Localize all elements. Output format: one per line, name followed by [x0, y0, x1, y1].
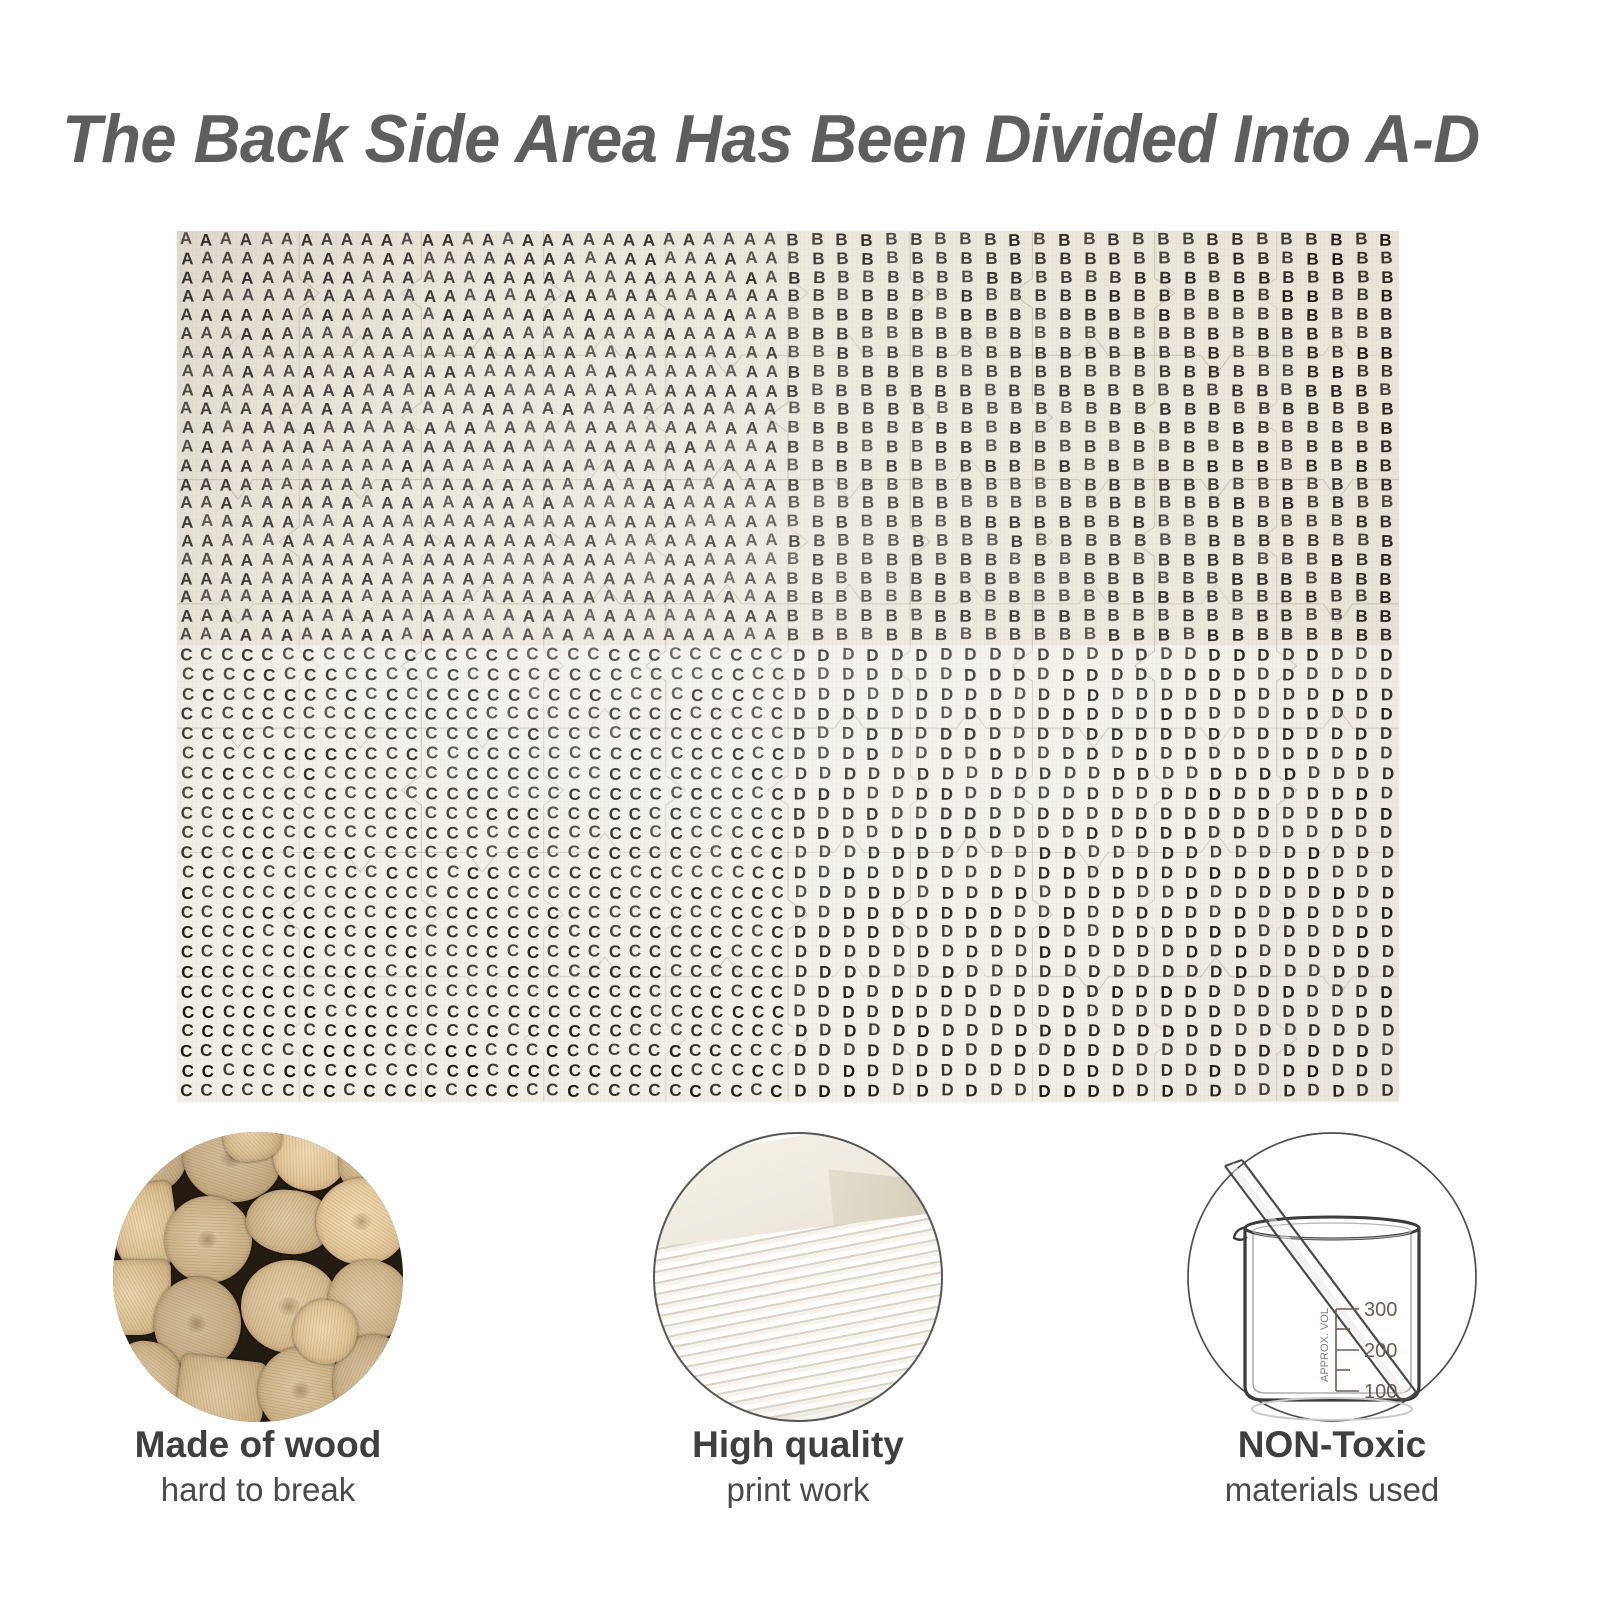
grid-letter: D: [984, 883, 1008, 903]
grid-letter: A: [196, 400, 216, 419]
grid-letter: D: [862, 1081, 887, 1101]
grid-letter: D: [933, 725, 958, 745]
grid-letter: A: [499, 344, 519, 363]
paper-caption-sub: print work: [588, 1468, 1008, 1512]
grid-letter: D: [1253, 1080, 1278, 1100]
grid-letter: C: [604, 1040, 624, 1060]
grid-letter: B: [1003, 306, 1028, 325]
grid-letter: D: [886, 764, 911, 785]
grid-letter: B: [1028, 324, 1053, 343]
grid-letter: A: [558, 626, 578, 645]
grid-letter: A: [257, 494, 277, 513]
grid-letter: C: [665, 645, 686, 664]
grid-letter: B: [1176, 457, 1201, 476]
grid-letter: D: [788, 744, 812, 764]
grid-letter: D: [1251, 724, 1276, 744]
grid-letter: A: [358, 513, 378, 532]
grid-letter: B: [1250, 513, 1275, 532]
grid-letter: D: [1081, 1001, 1106, 1021]
grid-letter: C: [177, 982, 197, 1002]
grid-letter: B: [1078, 288, 1103, 307]
grid-letter: B: [1201, 437, 1226, 456]
grid-letter: C: [402, 1061, 422, 1081]
grid-letter: C: [624, 1080, 645, 1100]
grid-letter: B: [953, 457, 978, 476]
grid-letter: D: [1374, 1002, 1398, 1022]
grid-letter: C: [706, 803, 726, 823]
grid-letter: D: [861, 923, 885, 943]
grid-letter: D: [1375, 1040, 1399, 1060]
grid-letter: C: [747, 724, 768, 744]
grid-letter: D: [1057, 685, 1082, 705]
grid-letter: D: [910, 1081, 935, 1101]
grid-letter: A: [338, 249, 358, 268]
grid-letter: C: [604, 902, 625, 922]
grid-letter: B: [1078, 362, 1103, 381]
grid-letter: A: [196, 457, 217, 476]
grid-letter: C: [585, 784, 606, 804]
grid-letter: C: [645, 803, 666, 823]
grid-letter: A: [700, 437, 721, 456]
grid-letter: C: [441, 1080, 461, 1100]
grid-letter: D: [983, 1002, 1008, 1022]
grid-letter: A: [439, 343, 459, 362]
grid-letter: A: [700, 325, 721, 344]
grid-letter: C: [686, 982, 707, 1002]
grid-letter: B: [1028, 344, 1053, 363]
letter-row: BBBBBBBBBBBBBBBBBBBBBBBBB: [781, 457, 1398, 476]
grid-letter: D: [836, 705, 861, 725]
grid-letter: C: [380, 645, 401, 664]
letter-row: BBBBBBBBBBBBBBBBBBBBBBBBB: [782, 269, 1399, 288]
letter-row: DDDDDDDDDDDDDDDDDDDDDDDDD: [788, 685, 1399, 705]
grid-letter: A: [459, 381, 479, 400]
grid-letter: D: [1204, 1022, 1229, 1042]
grid-letter: C: [768, 883, 788, 903]
grid-letter: C: [544, 824, 565, 844]
grid-letter: C: [258, 704, 279, 724]
grid-letter: D: [1277, 863, 1301, 883]
grid-letter: A: [518, 569, 538, 588]
letter-row: CCCCCCCCCCCCCCCCCCCCCCCCCCCCCC: [177, 942, 788, 962]
grid-letter: C: [584, 1021, 605, 1041]
grid-letter: C: [238, 804, 259, 824]
grid-letter: D: [837, 882, 862, 902]
grid-letter: D: [1277, 1081, 1301, 1101]
quadrant-c: CCCCCCCCCCCCCCCCCCCCCCCCCCCCCCCCCCCCCCCC…: [177, 645, 788, 1101]
grid-letter: D: [909, 982, 934, 1002]
grid-letter: A: [700, 512, 720, 531]
grid-letter: A: [761, 382, 781, 401]
grid-letter: B: [879, 587, 904, 606]
grid-letter: C: [219, 684, 240, 704]
grid-letter: D: [1056, 724, 1081, 744]
grid-letter: D: [933, 664, 958, 684]
grid-letter: C: [462, 784, 483, 804]
grid-letter: A: [679, 475, 699, 494]
grid-letter: C: [421, 922, 442, 942]
grid-letter: B: [806, 250, 831, 269]
grid-letter: B: [1326, 531, 1351, 550]
grid-letter: C: [747, 765, 768, 785]
grid-letter: A: [217, 512, 237, 531]
grid-letter: C: [238, 982, 258, 1002]
grid-letter: A: [539, 532, 560, 551]
grid-letter: C: [707, 822, 728, 842]
grid-letter: C: [421, 724, 442, 744]
grid-letter: D: [1154, 923, 1179, 943]
grid-letter: D: [1350, 862, 1375, 882]
grid-letter: D: [1007, 683, 1032, 703]
grid-letter: A: [538, 569, 558, 588]
grid-letter: B: [806, 306, 831, 325]
grid-letter: A: [659, 456, 679, 475]
grid-letter: D: [836, 823, 861, 843]
grid-letter: D: [1105, 725, 1129, 745]
grid-letter: D: [1178, 803, 1203, 823]
grid-letter: C: [198, 1002, 218, 1022]
grid-letter: D: [1057, 763, 1082, 783]
grid-letter: C: [300, 665, 321, 685]
grid-letter: A: [519, 250, 539, 269]
grid-letter: D: [1154, 744, 1179, 764]
grid-letter: D: [1252, 784, 1277, 804]
grid-letter: A: [278, 382, 298, 401]
grid-letter: A: [558, 231, 578, 250]
grid-letter: C: [706, 763, 727, 783]
grid-letter: A: [458, 400, 478, 419]
grid-letter: B: [1077, 456, 1102, 475]
letter-row: AAAAAAAAAAAAAAAAAAAAAAAAAAAAAA: [177, 457, 780, 476]
grid-letter: A: [438, 569, 459, 588]
grid-letter: C: [523, 981, 543, 1001]
grid-letter: C: [768, 923, 788, 943]
grid-letter: C: [442, 724, 463, 744]
grid-letter: B: [1127, 626, 1152, 645]
grid-letter: C: [257, 1040, 278, 1060]
grid-letter: A: [719, 626, 739, 645]
grid-letter: C: [319, 1082, 340, 1101]
glass-beaker-with-stir-rod: 300 200 100 APPROX. VOL: [1187, 1132, 1477, 1422]
grid-letter: A: [760, 325, 780, 344]
grid-letter: C: [217, 704, 238, 724]
grid-letter: D: [1008, 923, 1032, 943]
grid-letter: D: [1325, 902, 1350, 922]
grid-letter: D: [1179, 863, 1204, 883]
grid-letter: B: [1374, 626, 1399, 645]
grid-letter: A: [721, 362, 742, 381]
grid-letter: C: [239, 1061, 260, 1081]
grid-letter: D: [1375, 1021, 1399, 1041]
grid-letter: C: [563, 1041, 583, 1061]
grid-letter: D: [1009, 764, 1034, 784]
grid-letter: C: [728, 745, 748, 765]
grid-letter: A: [438, 400, 458, 419]
grid-letter: A: [720, 437, 740, 456]
grid-letter: A: [276, 589, 297, 608]
grid-letter: C: [381, 883, 402, 903]
grid-letter: B: [980, 400, 1005, 419]
grid-letter: D: [1325, 743, 1350, 763]
grid-letter: A: [460, 287, 480, 306]
grid-letter: C: [687, 1002, 708, 1022]
grid-letter: B: [855, 437, 880, 456]
grid-letter: C: [625, 725, 645, 745]
grid-letter: C: [524, 683, 545, 703]
grid-letter: D: [1056, 744, 1081, 764]
grid-letter: D: [1374, 783, 1399, 803]
grid-letter: D: [1374, 664, 1398, 684]
grid-letter: A: [317, 570, 337, 589]
grid-letter: C: [503, 764, 524, 784]
grid-letter: C: [320, 724, 340, 744]
grid-letter: C: [645, 942, 665, 962]
grid-letter: D: [1154, 1001, 1179, 1021]
grid-letter: A: [680, 439, 701, 458]
grid-letter: C: [624, 804, 645, 824]
grid-letter: C: [544, 743, 565, 763]
grid-letter: D: [1350, 1061, 1375, 1081]
grid-letter: C: [686, 942, 707, 962]
grid-letter: D: [1154, 645, 1179, 664]
grid-letter: D: [1008, 902, 1033, 922]
grid-letter: C: [543, 803, 563, 823]
grid-letter: A: [520, 287, 540, 306]
grid-letter: A: [299, 287, 319, 306]
paper-circle: [653, 1132, 943, 1422]
grid-letter: C: [462, 903, 483, 923]
grid-letter: C: [177, 1042, 196, 1062]
grid-letter: B: [856, 400, 881, 419]
grid-letter: C: [543, 1080, 564, 1100]
grid-letter: A: [417, 588, 437, 607]
letter-row: AAAAAAAAAAAAAAAAAAAAAAAAAAAAAA: [177, 588, 780, 607]
grid-letter: A: [277, 550, 298, 569]
grid-letter: D: [1153, 824, 1178, 844]
grid-letter: C: [340, 922, 361, 942]
grid-letter: C: [401, 922, 422, 942]
grid-letter: D: [1374, 646, 1399, 666]
grid-letter: D: [935, 963, 960, 983]
grid-letter: A: [579, 456, 599, 475]
grid-letter: A: [640, 380, 661, 399]
grid-letter: D: [982, 803, 1007, 823]
log-knot: [290, 1381, 311, 1400]
grid-letter: C: [685, 645, 705, 664]
grid-letter: B: [1200, 381, 1225, 400]
grid-letter: C: [483, 665, 504, 685]
grid-letter: B: [1101, 589, 1126, 608]
grid-letter: A: [580, 514, 600, 533]
grid-letter: B: [856, 531, 881, 550]
grid-letter: B: [1349, 475, 1374, 494]
grid-letter: A: [297, 588, 318, 607]
grid-letter: D: [1228, 842, 1253, 862]
grid-letter: C: [238, 724, 259, 744]
grid-letter: C: [259, 685, 280, 705]
grid-letter: C: [665, 903, 686, 923]
grid-letter: A: [720, 550, 740, 569]
grid-letter: D: [1129, 725, 1153, 745]
grid-letter: D: [813, 963, 838, 983]
grid-letter: A: [377, 627, 397, 645]
grid-letter: B: [1126, 570, 1151, 589]
grid-letter: C: [361, 1022, 381, 1042]
grid-letter: A: [580, 249, 600, 268]
grid-letter: B: [1200, 588, 1225, 607]
grid-letter: C: [748, 743, 769, 763]
grid-letter: A: [739, 401, 759, 420]
grid-letter: C: [442, 763, 463, 783]
grid-letter: C: [380, 941, 401, 961]
grid-letter: D: [1325, 922, 1350, 942]
letter-row: CCCCCCCCCCCCCCCCCCCCCCCCCCCCCC: [177, 764, 788, 784]
grid-letter: C: [197, 941, 218, 961]
grid-letter: B: [1374, 306, 1399, 325]
grid-letter: D: [960, 962, 985, 982]
grid-letter: B: [806, 287, 831, 306]
grid-letter: A: [216, 231, 236, 249]
grid-letter: C: [278, 1080, 299, 1100]
grid-letter: A: [196, 625, 216, 644]
grid-letter: C: [503, 744, 524, 764]
grid-letter: C: [442, 923, 463, 943]
grid-letter: D: [934, 685, 958, 705]
grid-letter: D: [910, 1061, 935, 1081]
grid-letter: C: [320, 962, 341, 982]
grid-letter: B: [1177, 287, 1202, 306]
grid-letter: D: [1325, 645, 1350, 665]
grid-letter: A: [238, 381, 258, 400]
grid-letter: B: [905, 287, 930, 306]
grid-letter: C: [340, 982, 360, 1002]
grid-letter: D: [933, 824, 958, 844]
grid-letter: C: [502, 981, 523, 1001]
letter-row: CCCCCCCCCCCCCCCCCCCCCCCCCCCCCC: [177, 645, 787, 665]
grid-letter: D: [861, 863, 886, 883]
grid-letter: D: [1252, 1042, 1277, 1062]
grid-letter: A: [258, 343, 278, 362]
grid-letter: D: [836, 664, 861, 684]
grid-letter: D: [934, 862, 959, 882]
letter-row: CCCCCCCCCCCCCCCCCCCCCCCCCCCCCC: [177, 784, 788, 804]
grid-letter: A: [458, 476, 478, 495]
grid-letter: D: [909, 724, 934, 744]
grid-letter: C: [421, 981, 442, 1001]
grid-letter: D: [1080, 705, 1105, 725]
grid-letter: B: [1226, 305, 1251, 324]
grid-letter: D: [1252, 1060, 1277, 1080]
grid-letter: C: [381, 923, 402, 943]
wood-log: [172, 1353, 268, 1422]
grid-letter: C: [279, 763, 299, 783]
grid-letter: B: [1027, 381, 1052, 400]
grid-letter: B: [1102, 344, 1127, 363]
grid-letter: C: [748, 684, 769, 704]
grid-letter: B: [831, 420, 856, 439]
grid-letter: A: [538, 625, 558, 644]
grid-letter: D: [1203, 1041, 1228, 1061]
grid-letter: B: [1052, 513, 1077, 532]
letter-row: DDDDDDDDDDDDDDDDDDDDDDDDD: [789, 843, 1399, 863]
grid-letter: B: [978, 625, 1003, 644]
grid-letter: B: [905, 475, 930, 494]
grid-letter: A: [679, 588, 699, 607]
grid-letter: D: [1276, 982, 1301, 1002]
letter-row: AAAAAAAAAAAAAAAAAAAAAAAAAAAAAA: [177, 607, 781, 626]
grid-letter: B: [1176, 512, 1201, 531]
grid-letter: A: [520, 418, 540, 437]
grid-letter: C: [461, 1042, 482, 1062]
grid-letter: D: [885, 704, 909, 724]
grid-letter: C: [666, 961, 687, 981]
grid-letter: A: [579, 438, 600, 457]
grid-letter: B: [1226, 551, 1251, 570]
letter-row: DDDDDDDDDDDDDDDDDDDDDDDDD: [788, 1041, 1399, 1061]
grid-letter: C: [748, 1062, 769, 1082]
grid-letter: D: [1057, 942, 1082, 962]
grid-letter: D: [1351, 843, 1376, 863]
grid-letter: C: [299, 765, 319, 785]
grid-letter: A: [480, 418, 500, 437]
grid-letter: D: [836, 685, 861, 705]
grid-letter: B: [805, 570, 830, 589]
grid-letter: C: [705, 1041, 726, 1061]
grid-letter: C: [523, 903, 544, 923]
grid-letter: D: [788, 823, 812, 843]
grid-letter: D: [1276, 665, 1301, 685]
grid-letter: D: [982, 724, 1007, 744]
grid-letter: B: [930, 399, 955, 418]
grid-letter: D: [1325, 862, 1350, 882]
grid-letter: D: [860, 664, 885, 684]
grid-letter: C: [380, 1081, 401, 1101]
grid-letter: C: [198, 744, 219, 764]
grid-letter: D: [1302, 883, 1326, 903]
grid-letter: C: [217, 842, 237, 862]
letter-row: AAAAAAAAAAAAAAAAAAAAAAAAAAAAAA: [178, 382, 781, 401]
grid-letter: D: [837, 1040, 861, 1060]
grid-letter: B: [1275, 626, 1300, 645]
grid-letter: C: [278, 645, 299, 664]
grid-letter: A: [276, 627, 297, 645]
grid-letter: B: [1275, 306, 1300, 325]
grid-letter: D: [1081, 1062, 1106, 1082]
grid-letter: D: [1251, 743, 1276, 763]
grid-letter: A: [358, 437, 379, 456]
grid-letter: C: [340, 963, 360, 983]
grid-letter: C: [483, 863, 504, 883]
grid-letter: A: [256, 625, 277, 644]
grid-letter: C: [747, 883, 768, 903]
grid-letter: C: [421, 705, 441, 725]
grid-letter: A: [178, 344, 198, 363]
grid-letter: D: [1081, 784, 1106, 804]
grid-letter: C: [767, 962, 788, 982]
grid-letter: C: [178, 743, 199, 763]
grid-letter: C: [706, 842, 726, 862]
grid-letter: B: [929, 286, 954, 305]
grid-letter: A: [357, 493, 378, 512]
grid-letter: C: [564, 763, 585, 783]
grid-letter: B: [978, 381, 1003, 400]
grid-letter: A: [518, 400, 538, 419]
grid-letter: D: [1129, 804, 1154, 824]
grid-letter: B: [854, 232, 879, 251]
grid-letter: A: [701, 343, 721, 362]
grid-letter: D: [1277, 882, 1302, 902]
letter-row: DDDDDDDDDDDDDDDDDDDDDDDDD: [789, 764, 1399, 784]
